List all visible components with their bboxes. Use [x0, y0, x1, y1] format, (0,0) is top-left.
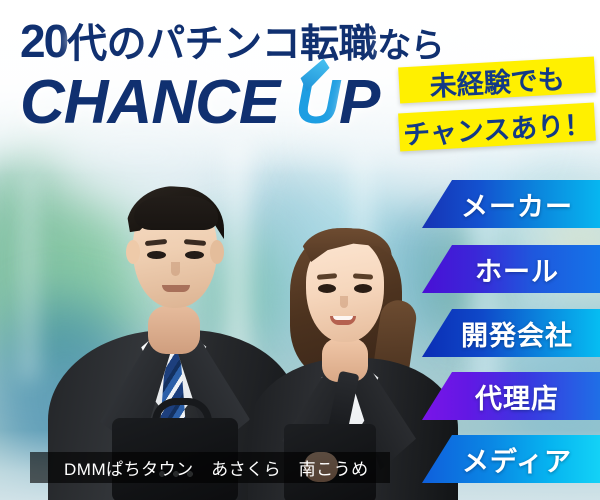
- category-label: 開発会社: [449, 314, 573, 353]
- headline-line-1: 20 代の パチンコ転職 なら: [20, 18, 440, 64]
- category-button-development-company[interactable]: 開発会社: [422, 309, 600, 357]
- headline: 20 代の パチンコ転職 なら CHANCE UP: [20, 18, 440, 134]
- headline-line-2: CHANCE UP: [20, 72, 440, 134]
- light-streak: [20, 170, 38, 380]
- caption-strip: DMMぱちタウン あさくら 南こうめ: [30, 452, 390, 483]
- category-button-media[interactable]: メディア: [422, 435, 600, 483]
- recruit-banner: 20 代の パチンコ転職 なら CHANCE UP 未経験でも チャンスあり！ …: [0, 0, 600, 500]
- category-label: ホール: [463, 250, 559, 289]
- headline-number: 20: [20, 18, 67, 64]
- category-label: 代理店: [463, 377, 559, 416]
- male-fringe: [134, 196, 218, 230]
- chance-word: CHANCE: [20, 72, 279, 134]
- male-neck: [148, 306, 200, 354]
- headline-part-c: なら: [377, 29, 444, 63]
- male-ear-right: [210, 240, 224, 264]
- category-button-agency[interactable]: 代理店: [422, 372, 600, 420]
- category-button-hall[interactable]: ホール: [422, 245, 600, 293]
- category-label: メディア: [450, 440, 572, 479]
- female-eye-left: [318, 284, 336, 293]
- badge-label: 未経験でも: [429, 57, 566, 103]
- caption-text: DMMぱちタウン あさくら 南こうめ: [30, 455, 369, 480]
- male-eye-left: [147, 251, 166, 259]
- category-button-maker[interactable]: メーカー: [422, 180, 600, 228]
- female-eye-right: [354, 284, 372, 293]
- category-label: メーカー: [449, 185, 573, 224]
- female-teeth: [333, 316, 353, 320]
- up-logo: UP: [295, 72, 379, 134]
- male-mouth: [162, 285, 190, 292]
- female-nose: [340, 296, 348, 308]
- headline-part-b: パチンコ転職: [146, 25, 377, 64]
- headline-part-a: 代の: [67, 24, 146, 64]
- male-nose: [171, 262, 180, 276]
- male-eye-right: [185, 251, 204, 259]
- male-ear-left: [126, 240, 140, 264]
- up-letter-p: P: [339, 68, 379, 137]
